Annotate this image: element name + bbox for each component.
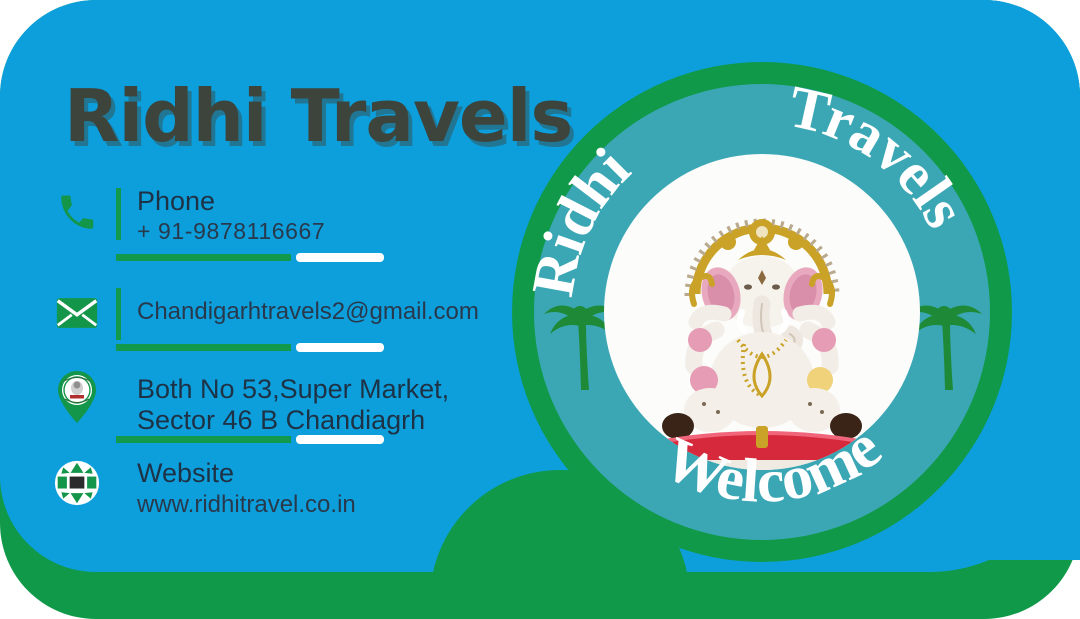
phone-label: Phone	[137, 186, 514, 217]
row-divider-bar	[116, 188, 121, 240]
envelope-icon	[54, 290, 100, 336]
contact-row-address[interactable]: Both No 53,Super Market, Sector 46 B Cha…	[44, 374, 514, 452]
map-pin-icon	[54, 374, 100, 420]
ganesha-statue-illustration	[604, 154, 920, 470]
contact-row-phone[interactable]: Phone + 91-9878116667	[44, 186, 514, 264]
row-underline	[116, 436, 291, 443]
contact-row-website[interactable]: Website www.ridhitravel.co.in	[44, 458, 514, 536]
email-address[interactable]: Chandigarhtravels2@gmail.com	[137, 296, 514, 327]
row-underline	[116, 344, 291, 351]
logo-inner-circle	[604, 154, 920, 470]
address-line-2: Sector 46 B Chandiagrh	[137, 405, 514, 436]
company-title: Ridhi Travels	[64, 74, 572, 158]
row-divider-bar	[116, 288, 121, 340]
website-label: Website	[137, 458, 514, 489]
business-card: Ridhi Travels Phone + 91-9878116667	[0, 0, 1080, 619]
row-underline	[116, 254, 291, 261]
website-url[interactable]: www.ridhitravel.co.in	[137, 489, 514, 520]
phone-icon	[54, 190, 100, 236]
contact-row-email[interactable]: Chandigarhtravels2@gmail.com	[44, 286, 514, 364]
globe-icon	[54, 460, 100, 506]
address-line-1: Both No 53,Super Market,	[137, 374, 514, 405]
logo-badge: Ridhi Travels Welcome	[512, 62, 1012, 562]
phone-number[interactable]: + 91-9878116667	[137, 217, 514, 247]
